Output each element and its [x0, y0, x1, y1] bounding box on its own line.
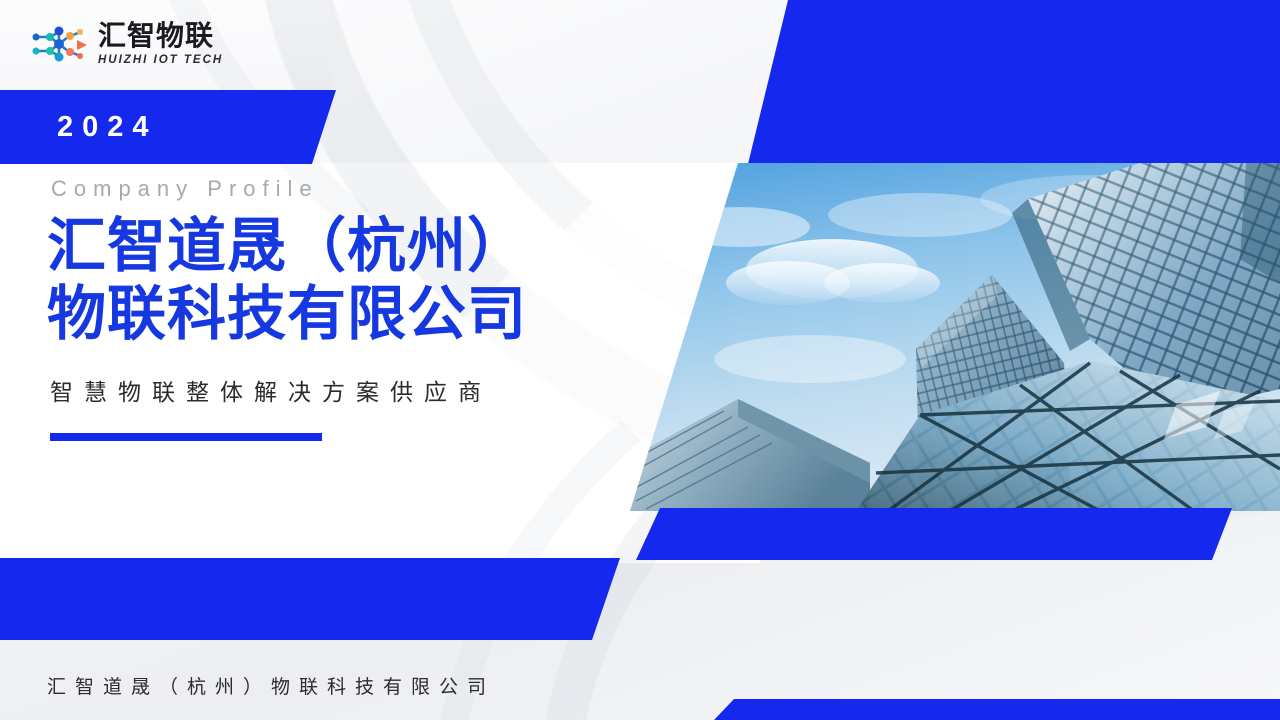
accent-underline	[50, 433, 322, 441]
blue-bar-bottom-left	[0, 558, 620, 640]
year-label: 2024	[57, 111, 158, 144]
blue-block-top-right	[740, 0, 1280, 164]
eyebrow-label: Company Profile	[51, 176, 687, 202]
blue-bar-under-photo	[636, 508, 1232, 560]
hero-text-block: Company Profile 汇智道晟（杭州） 物联科技有限公司 智慧物联整体…	[47, 176, 687, 441]
slide-canvas: 2024	[0, 0, 1280, 720]
title-line-1: 汇智道晟（杭州）	[47, 212, 687, 280]
page-title: 汇智道晟（杭州） 物联科技有限公司	[47, 212, 687, 349]
blue-bar-bottom-right	[714, 699, 1280, 720]
logo-chinese-text: 汇智物联	[98, 22, 223, 50]
subtitle: 智慧物联整体解决方案供应商	[50, 373, 687, 407]
footer-company-name: 汇智道晟（杭州）物联科技有限公司	[47, 672, 495, 699]
molecule-network-icon	[28, 22, 90, 66]
year-ribbon: 2024	[0, 90, 336, 164]
title-line-2: 物联科技有限公司	[47, 280, 687, 348]
logo-english-text: HUIZHI IOT TECH	[98, 55, 223, 67]
company-logo[interactable]: 汇智物联 HUIZHI IOT TECH	[28, 22, 223, 67]
